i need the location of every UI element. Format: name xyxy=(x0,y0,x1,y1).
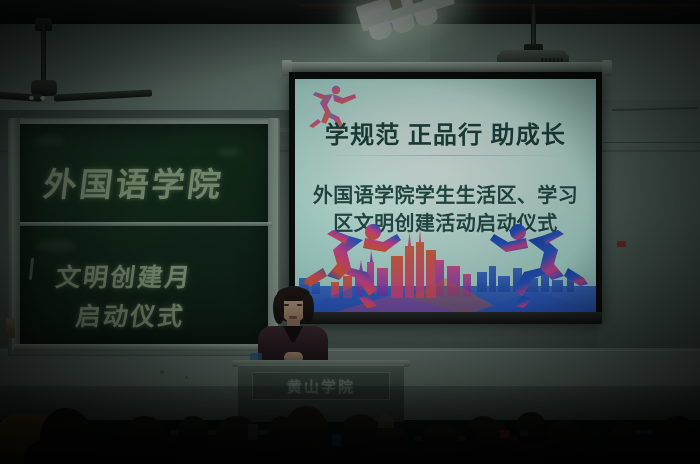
ceiling-fan-rod xyxy=(41,22,46,84)
audience-eyeglasses xyxy=(636,430,652,434)
screen-housing-cap-right xyxy=(602,60,612,76)
chalk-smudge xyxy=(34,135,64,145)
projection-screen: 学规范 正品行 助成长 外国语学院学生生活区、学习 区文明创建活动启动仪式 xyxy=(289,72,602,322)
audience-head xyxy=(122,416,168,464)
wall-blemish xyxy=(185,376,188,379)
blackboard-text-bottom: 启动仪式 xyxy=(74,297,187,333)
ceiling-fan-glint xyxy=(29,96,34,100)
blackboard-text-top: 外国语学院 xyxy=(41,158,227,206)
slide-title: 学规范 正品行 助成长 xyxy=(295,115,596,150)
wall-sticker xyxy=(617,241,626,247)
audience-head xyxy=(474,422,514,464)
lecture-hall-photo: 外国语学院 文明创建月 启动仪式 xyxy=(0,0,700,464)
audience-head xyxy=(516,412,546,444)
blackboard-text-middle: 文明创建月 xyxy=(54,258,195,294)
sprinting-runner-icon-right xyxy=(482,218,594,310)
audience-head xyxy=(282,406,330,464)
presenter-eye-right xyxy=(297,304,302,306)
audience-accent xyxy=(332,434,341,446)
audience-head xyxy=(544,420,586,464)
presenter-hair-left xyxy=(273,294,284,324)
audience-head xyxy=(656,416,700,464)
audience-accent xyxy=(520,430,528,436)
audience-row xyxy=(0,386,700,464)
slide-subtitle-line-1: 外国语学院学生生活区、学习 xyxy=(295,179,596,208)
audience-head xyxy=(372,426,410,464)
blackboard-edge-left xyxy=(12,118,20,350)
presenter xyxy=(256,286,330,366)
presenter-hair-right xyxy=(303,294,314,324)
chalk-smudge xyxy=(218,148,240,156)
audience-head xyxy=(178,416,208,450)
audience-hair-tie xyxy=(378,414,394,428)
slide-divider-rule xyxy=(325,155,565,156)
audience-accent xyxy=(248,424,258,440)
screen-bottom-bar xyxy=(289,312,602,324)
blackboard-latch xyxy=(6,318,15,338)
wall-blemish xyxy=(160,370,164,374)
audience-accent xyxy=(500,430,509,438)
audience-head xyxy=(40,408,92,464)
ceiling-fan-glint xyxy=(40,96,45,100)
presentation-slide: 学规范 正品行 助成长 外国语学院学生生活区、学习 区文明创建活动启动仪式 xyxy=(295,79,596,312)
projector-mount-pole xyxy=(531,4,536,46)
presenter-mouth xyxy=(289,316,297,319)
presenter-eye-left xyxy=(284,304,289,306)
blackboard-divider-rail xyxy=(20,222,272,226)
chalk-smudge xyxy=(36,240,76,252)
wall-crack xyxy=(604,142,700,143)
chalk-tray xyxy=(14,344,276,351)
